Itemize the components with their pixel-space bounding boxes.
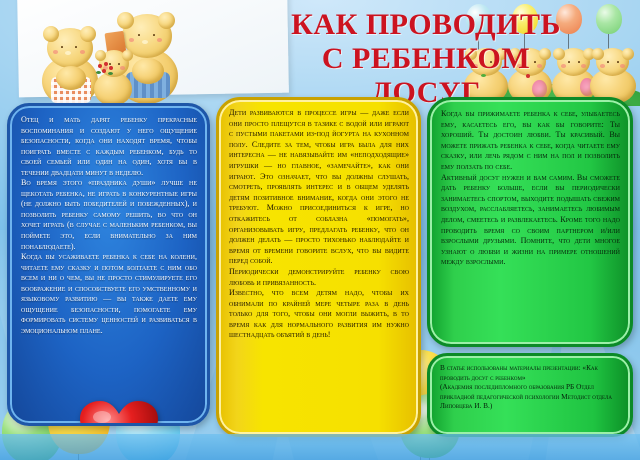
bottom-gradient-strip	[0, 434, 640, 460]
right-column-text: Когда вы прижимаете ребенка к себе, улыб…	[441, 109, 620, 268]
source-note-box: В статье использованы материалы презента…	[427, 353, 633, 437]
flowers-icon	[96, 62, 116, 78]
heart-balloon	[80, 400, 158, 426]
text-column-left: Отец и мать дарят ребенку прекрасные вос…	[7, 103, 210, 426]
bear-family-illustration	[40, 2, 220, 102]
middle-column-text: Дети развиваются в процессе игры — даже …	[229, 108, 409, 341]
poster-title: КАК ПРОВОДИТЬ С РЕБЕНКОМ ДОСУГ	[276, 8, 576, 110]
poster-canvas: КАК ПРОВОДИТЬ С РЕБЕНКОМ ДОСУГ Отец и ма…	[0, 0, 640, 460]
heart-shape-icon	[80, 400, 158, 426]
balloon-green	[596, 4, 622, 34]
source-note-text: В статье использованы материалы презента…	[440, 363, 621, 411]
text-column-middle: Дети развиваются в процессе игры — даже …	[216, 97, 421, 437]
text-column-right: Когда вы прижимаете ребенка к себе, улыб…	[427, 97, 633, 347]
left-column-text: Отец и мать дарят ребенку прекрасные вос…	[21, 115, 197, 336]
title-line-1: КАК ПРОВОДИТЬ	[276, 8, 576, 42]
